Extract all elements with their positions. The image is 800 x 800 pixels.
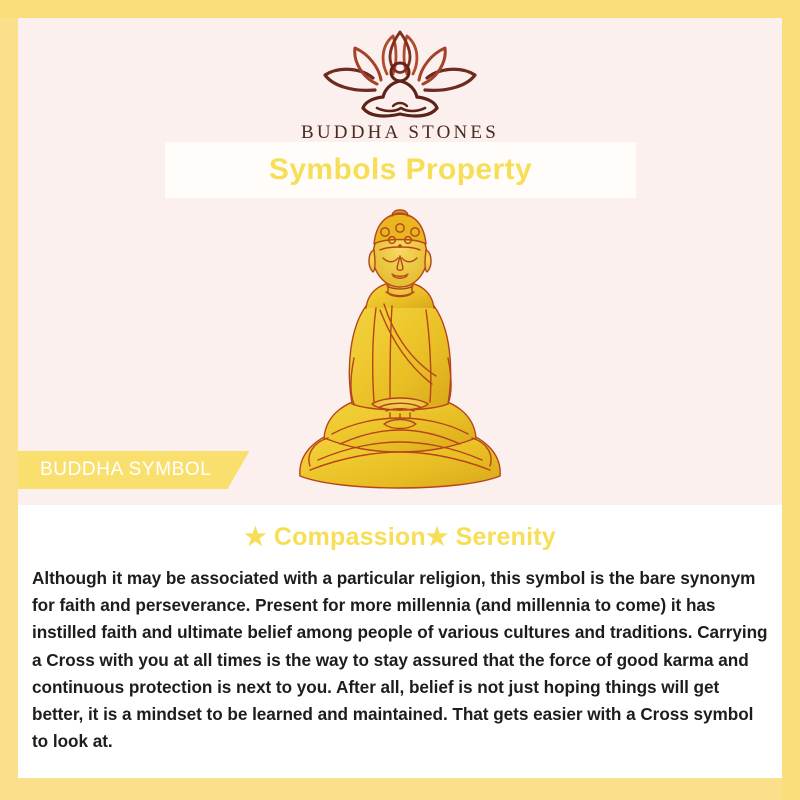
ribbon-label: BUDDHA SYMBOL bbox=[40, 459, 211, 481]
page-title: Symbols Property bbox=[269, 153, 532, 187]
frame-border-bottom bbox=[0, 778, 800, 800]
golden-seated-buddha-statue-icon bbox=[280, 208, 520, 498]
section-ribbon: BUDDHA SYMBOL bbox=[18, 451, 249, 489]
content-paragraph: Although it may be associated with a par… bbox=[32, 565, 768, 755]
poster-card: BUDDHA STONES Symbols Property bbox=[18, 18, 782, 778]
title-banner: Symbols Property bbox=[165, 142, 636, 198]
frame-border-right bbox=[782, 0, 800, 800]
frame-border-top bbox=[0, 0, 800, 18]
content-headline: ★ Compassion★ Serenity bbox=[32, 522, 768, 552]
brand-name: BUDDHA STONES bbox=[18, 122, 782, 144]
frame-border-left bbox=[0, 0, 18, 800]
content-section: ★ Compassion★ Serenity Although it may b… bbox=[18, 505, 782, 778]
lotus-meditation-figure-icon bbox=[315, 28, 485, 120]
brand-header: BUDDHA STONES bbox=[18, 28, 782, 144]
poster-canvas: BUDDHA STONES Symbols Property bbox=[0, 0, 800, 800]
